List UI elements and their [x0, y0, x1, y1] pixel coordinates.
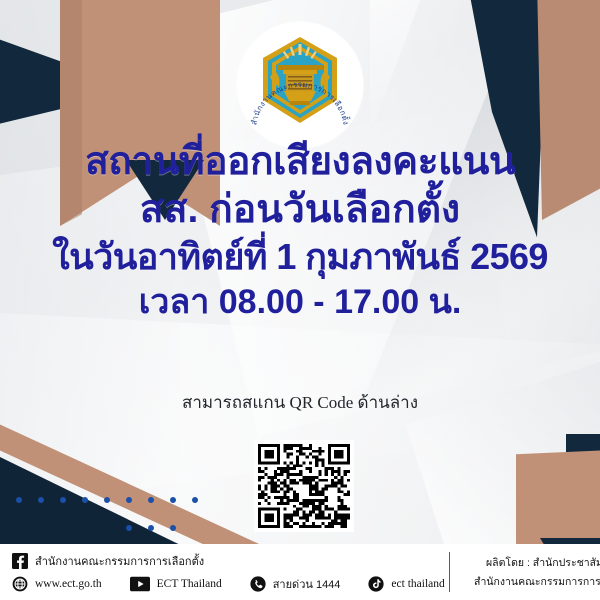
- footer-row-links: www.ect.go.th ECT Thailand สายด่วน 1444: [12, 575, 445, 593]
- footer-contact-group: สำนักงานคณะกรรมการการเลือกตั้ง www.ect.g…: [0, 544, 445, 600]
- decoration-dot: [82, 497, 88, 503]
- decoration-dot: [126, 525, 132, 531]
- decoration-dot: [16, 497, 22, 503]
- ect-seal-icon: สำนักงานคณะกรรมการการเลือกตั้ง: [241, 26, 359, 144]
- decoration-dot: [148, 525, 154, 531]
- footer-facebook-label: สำนักงานคณะกรรมการการเลือกตั้ง: [35, 552, 204, 570]
- decoration-dot: [104, 497, 110, 503]
- headline-line-4: เวลา 08.00 - 17.00 น.: [0, 285, 600, 319]
- headline-line-3: ในวันอาทิตย์ที่ 1 กุมภาพันธ์ 2569: [0, 239, 600, 275]
- footer-tiktok-label[interactable]: ect thailand: [391, 578, 444, 590]
- footer-divider: [449, 552, 450, 592]
- qr-instruction-text: สามารถสแกน QR Code ด้านล่าง: [0, 389, 600, 416]
- headline-line-2: สส. ก่อนวันเลือกตั้ง: [0, 190, 600, 229]
- footer-credit-line-1: ผลิตโดย : สำนักประชาสัมพันธ์: [486, 554, 600, 571]
- ect-logo: สำนักงานคณะกรรมการการเลือกตั้ง: [237, 22, 363, 148]
- decoration-dot: [38, 497, 44, 503]
- decoration-dot: [126, 497, 132, 503]
- headline-line-1: สถานที่ออกเสียงลงคะแนน: [0, 142, 600, 181]
- qr-code[interactable]: [254, 440, 354, 532]
- footer-hotline-label: สายด่วน 1444: [273, 575, 341, 593]
- qr-code-image: [258, 444, 350, 528]
- youtube-icon: [130, 576, 150, 592]
- tiktok-icon: [368, 576, 384, 592]
- decoration-dot-grid: [8, 486, 208, 538]
- facebook-icon: [12, 553, 28, 569]
- footer-bar: สำนักงานคณะกรรมการการเลือกตั้ง www.ect.g…: [0, 544, 600, 600]
- footer-credit-line-2: สำนักงานคณะกรรมการการเลือกตั้ง: [474, 573, 600, 590]
- footer-row-facebook[interactable]: สำนักงานคณะกรรมการการเลือกตั้ง: [12, 552, 445, 570]
- decoration-dot: [170, 497, 176, 503]
- globe-icon: [12, 576, 28, 592]
- decoration-dot: [170, 525, 176, 531]
- footer-credit-group: ผลิตโดย : สำนักประชาสัมพันธ์ สำนักงานคณะ…: [460, 544, 600, 600]
- phone-icon: [250, 576, 266, 592]
- decoration-dot: [60, 497, 66, 503]
- headline-block: สถานที่ออกเสียงลงคะแนน สส. ก่อนวันเลือกต…: [0, 142, 600, 319]
- poster-canvas: สำนักงานคณะกรรมการการเลือกตั้ง สถานที่ออ…: [0, 0, 600, 600]
- footer-youtube-label[interactable]: ECT Thailand: [157, 578, 222, 590]
- decoration-dot: [148, 497, 154, 503]
- decoration-bottom-right-tan-banner: [516, 448, 600, 552]
- footer-website-label[interactable]: www.ect.go.th: [35, 578, 102, 590]
- decoration-dot: [192, 497, 198, 503]
